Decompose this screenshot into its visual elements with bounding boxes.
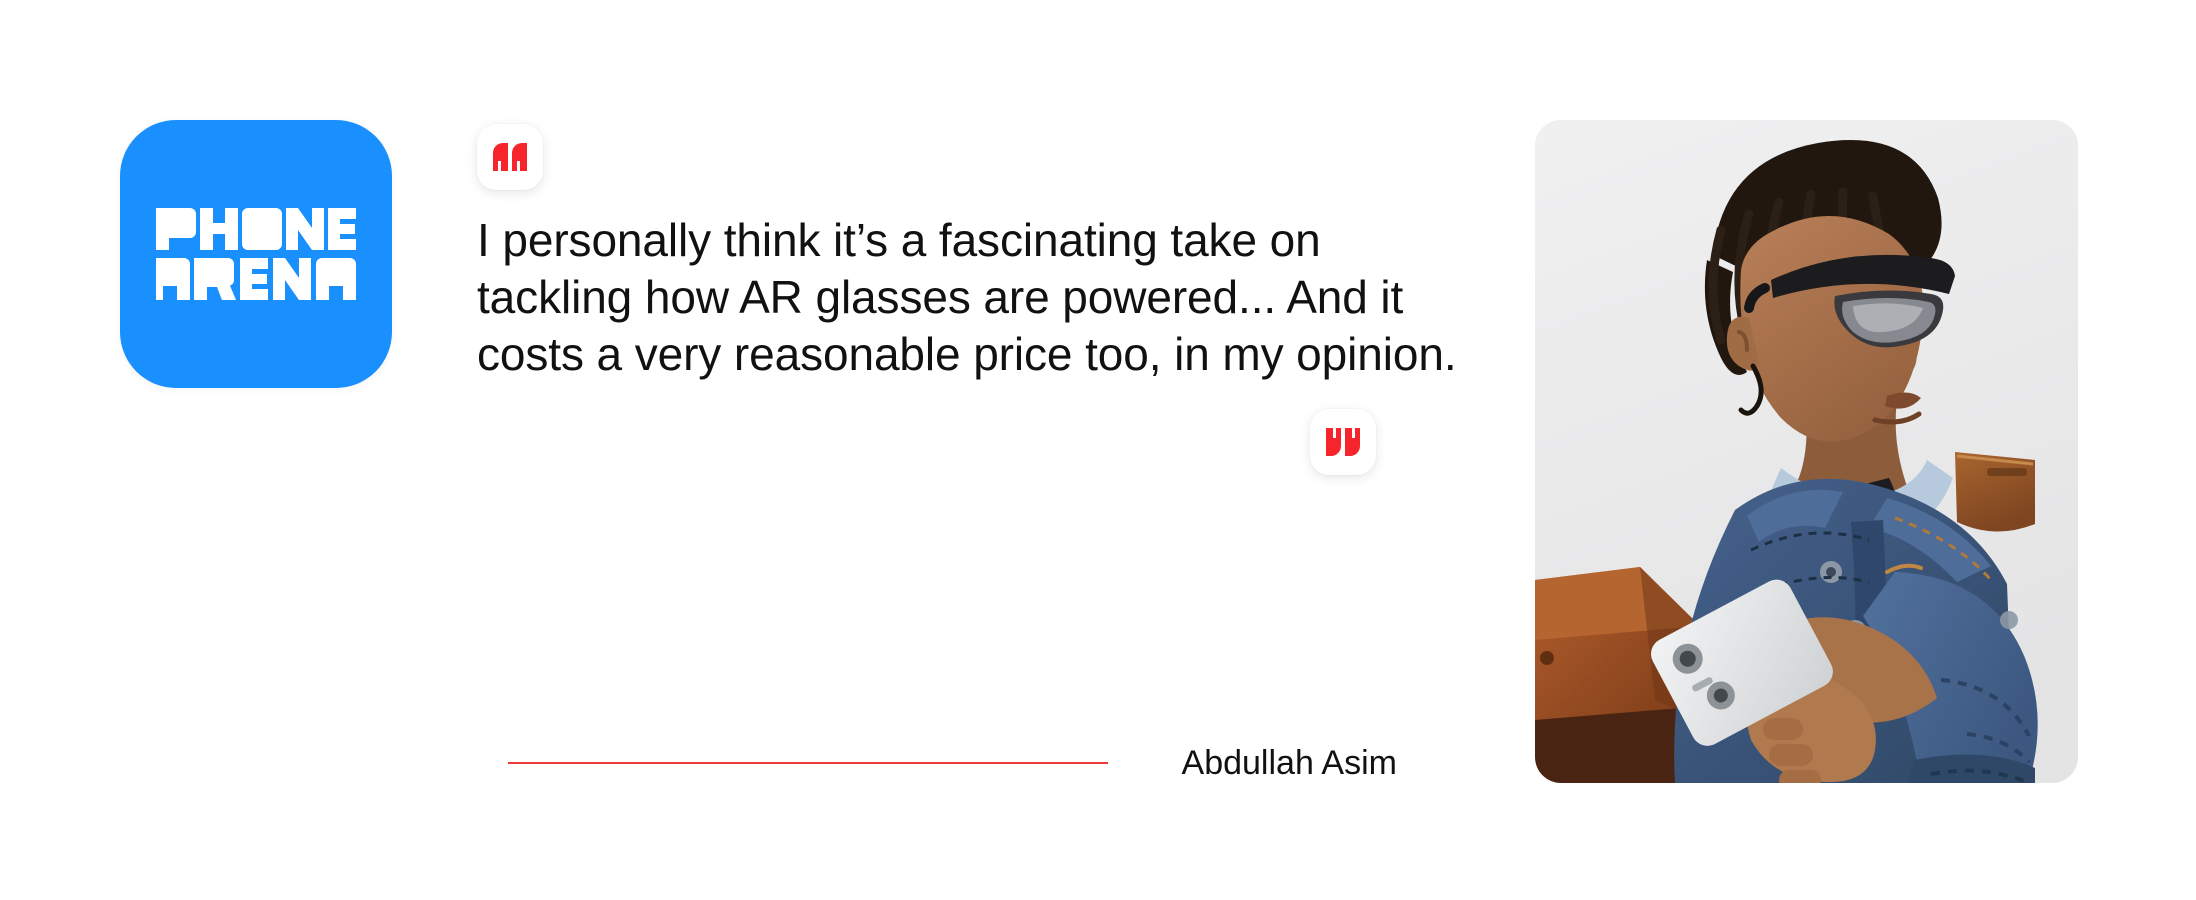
quote-block: I personally think it’s a fascinating ta… [477, 120, 1397, 800]
attribution-row: Abdullah Asim [477, 735, 1397, 791]
brand-logo-tile [120, 120, 392, 388]
quote-line-1: I personally think it’s a fascinating ta… [477, 212, 1389, 269]
open-quote-badge [477, 124, 543, 190]
quote-card: I personally think it’s a fascinating ta… [0, 0, 2196, 900]
ar-glasses-subject-illustration [1535, 120, 2078, 783]
open-quote-icon [493, 143, 527, 171]
close-quote-badge [1310, 409, 1376, 475]
subject-photo [1535, 120, 2078, 783]
attribution-rule [508, 762, 1108, 764]
quote-line-3: costs a very reasonable price too, in my… [477, 326, 1389, 383]
quote-line-2: tackling how AR glasses are powered... A… [477, 269, 1389, 326]
close-quote-icon [1326, 428, 1360, 456]
author-name: Abdullah Asim [1182, 746, 1397, 780]
quote-text: I personally think it’s a fascinating ta… [477, 212, 1389, 383]
phonearena-wordmark-icon [156, 208, 356, 300]
